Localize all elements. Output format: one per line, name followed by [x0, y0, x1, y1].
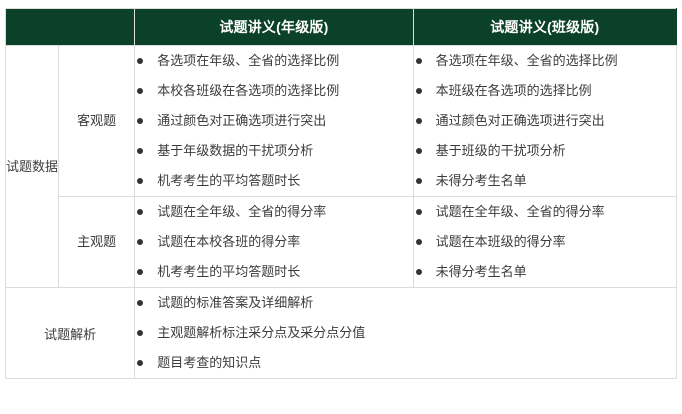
- list-item: 试题在全年级、全省的得分率: [414, 197, 676, 227]
- list-item: 未得分考生名单: [414, 166, 676, 196]
- screenshot-root: 试题讲义(年级版) 试题讲义(班级版) 试题数据 客观题 各选项在年级、全省的选…: [0, 0, 682, 414]
- list-subjective-class: 试题在全年级、全省的得分率 试题在本班级的得分率 未得分考生名单: [414, 197, 676, 287]
- feature-comparison-table-wrapper: 试题讲义(年级版) 试题讲义(班级版) 试题数据 客观题 各选项在年级、全省的选…: [5, 8, 677, 406]
- list-item: 通过颜色对正确选项进行突出: [135, 106, 412, 136]
- row-label-objective: 客观题: [59, 46, 135, 197]
- group-label-exam-data: 试题数据: [6, 46, 59, 288]
- list-item-label: 题目考查的知识点: [157, 355, 261, 370]
- list-item-label: 机考考生的平均答题时长: [157, 173, 300, 188]
- header-column-class-version: 试题讲义(班级版): [413, 9, 676, 46]
- list-item: 基于年级数据的干扰项分析: [135, 136, 412, 166]
- list-item: 各选项在年级、全省的选择比例: [414, 46, 676, 76]
- bullet-icon: [137, 88, 143, 94]
- bullet-icon: [137, 239, 143, 245]
- list-item-label: 各选项在年级、全省的选择比例: [157, 53, 339, 68]
- list-item: 试题在本校各班的得分率: [135, 227, 412, 257]
- list-item: 通过颜色对正确选项进行突出: [414, 106, 676, 136]
- list-item: 主观题解析标注采分点及采分点分值: [135, 318, 676, 348]
- list-item: 本校各班级在各选项的选择比例: [135, 76, 412, 106]
- list-item-label: 未得分考生名单: [436, 264, 527, 279]
- list-item: 试题的标准答案及详细解析: [135, 288, 676, 318]
- bullet-icon: [137, 148, 143, 154]
- row-label-subjective: 主观题: [59, 197, 135, 288]
- table-row-analysis: 试题解析 试题的标准答案及详细解析 主观题解析标注采分点及采分点分值 题目考查的…: [6, 288, 677, 379]
- cell-subjective-class: 试题在全年级、全省的得分率 试题在本班级的得分率 未得分考生名单: [413, 197, 676, 288]
- list-subjective-grade: 试题在全年级、全省的得分率 试题在本校各班的得分率 机考考生的平均答题时长: [135, 197, 412, 287]
- header-corner-cell: [6, 9, 135, 46]
- bullet-icon: [137, 209, 143, 215]
- list-item-label: 试题在本校各班的得分率: [157, 234, 300, 249]
- bullet-icon: [416, 178, 422, 184]
- list-item: 未得分考生名单: [414, 257, 676, 287]
- bullet-icon: [137, 58, 143, 64]
- list-item: 基于班级的干扰项分析: [414, 136, 676, 166]
- bullet-icon: [137, 118, 143, 124]
- table-row-objective: 试题数据 客观题 各选项在年级、全省的选择比例 本校各班级在各选项的选择比例 通…: [6, 46, 677, 197]
- list-item-label: 通过颜色对正确选项进行突出: [157, 113, 326, 128]
- list-analysis: 试题的标准答案及详细解析 主观题解析标注采分点及采分点分值 题目考查的知识点: [135, 288, 676, 378]
- bullet-icon: [137, 269, 143, 275]
- list-item: 试题在本班级的得分率: [414, 227, 676, 257]
- list-objective-grade: 各选项在年级、全省的选择比例 本校各班级在各选项的选择比例 通过颜色对正确选项进…: [135, 46, 412, 196]
- bullet-icon: [416, 118, 422, 124]
- list-item-label: 试题在本班级的得分率: [436, 234, 566, 249]
- bullet-icon: [137, 300, 143, 306]
- table-row-subjective: 主观题 试题在全年级、全省的得分率 试题在本校各班的得分率 机考考生的平均答题时…: [6, 197, 677, 288]
- list-item-label: 本班级在各选项的选择比例: [436, 83, 592, 98]
- list-item-label: 机考考生的平均答题时长: [157, 264, 300, 279]
- bullet-icon: [416, 58, 422, 64]
- list-item: 题目考查的知识点: [135, 348, 676, 378]
- cell-analysis-items: 试题的标准答案及详细解析 主观题解析标注采分点及采分点分值 题目考查的知识点: [135, 288, 677, 379]
- list-item-label: 试题在全年级、全省的得分率: [157, 204, 326, 219]
- list-item-label: 未得分考生名单: [436, 173, 527, 188]
- list-item-label: 基于班级的干扰项分析: [436, 143, 566, 158]
- feature-comparison-table: 试题讲义(年级版) 试题讲义(班级版) 试题数据 客观题 各选项在年级、全省的选…: [5, 8, 677, 379]
- list-item-label: 通过颜色对正确选项进行突出: [436, 113, 605, 128]
- list-item-label: 本校各班级在各选项的选择比例: [157, 83, 339, 98]
- list-item: 机考考生的平均答题时长: [135, 257, 412, 287]
- list-item: 试题在全年级、全省的得分率: [135, 197, 412, 227]
- header-column-grade-version: 试题讲义(年级版): [135, 9, 413, 46]
- table-header-row: 试题讲义(年级版) 试题讲义(班级版): [6, 9, 677, 46]
- list-item-label: 试题的标准答案及详细解析: [157, 295, 313, 310]
- bullet-icon: [416, 269, 422, 275]
- table-body: 试题数据 客观题 各选项在年级、全省的选择比例 本校各班级在各选项的选择比例 通…: [6, 46, 677, 379]
- cell-objective-class: 各选项在年级、全省的选择比例 本班级在各选项的选择比例 通过颜色对正确选项进行突…: [413, 46, 676, 197]
- bullet-icon: [416, 88, 422, 94]
- list-item: 机考考生的平均答题时长: [135, 166, 412, 196]
- list-item-label: 试题在全年级、全省的得分率: [436, 204, 605, 219]
- list-objective-class: 各选项在年级、全省的选择比例 本班级在各选项的选择比例 通过颜色对正确选项进行突…: [414, 46, 676, 196]
- bullet-icon: [416, 148, 422, 154]
- list-item-label: 主观题解析标注采分点及采分点分值: [157, 325, 365, 340]
- row-label-analysis: 试题解析: [6, 288, 135, 379]
- cell-objective-grade: 各选项在年级、全省的选择比例 本校各班级在各选项的选择比例 通过颜色对正确选项进…: [135, 46, 413, 197]
- cell-subjective-grade: 试题在全年级、全省的得分率 试题在本校各班的得分率 机考考生的平均答题时长: [135, 197, 413, 288]
- list-item-label: 基于年级数据的干扰项分析: [157, 143, 313, 158]
- table-header: 试题讲义(年级版) 试题讲义(班级版): [6, 9, 677, 46]
- list-item: 各选项在年级、全省的选择比例: [135, 46, 412, 76]
- bullet-icon: [137, 178, 143, 184]
- bullet-icon: [137, 330, 143, 336]
- bullet-icon: [416, 239, 422, 245]
- list-item: 本班级在各选项的选择比例: [414, 76, 676, 106]
- bullet-icon: [416, 209, 422, 215]
- list-item-label: 各选项在年级、全省的选择比例: [436, 53, 618, 68]
- bullet-icon: [137, 360, 143, 366]
